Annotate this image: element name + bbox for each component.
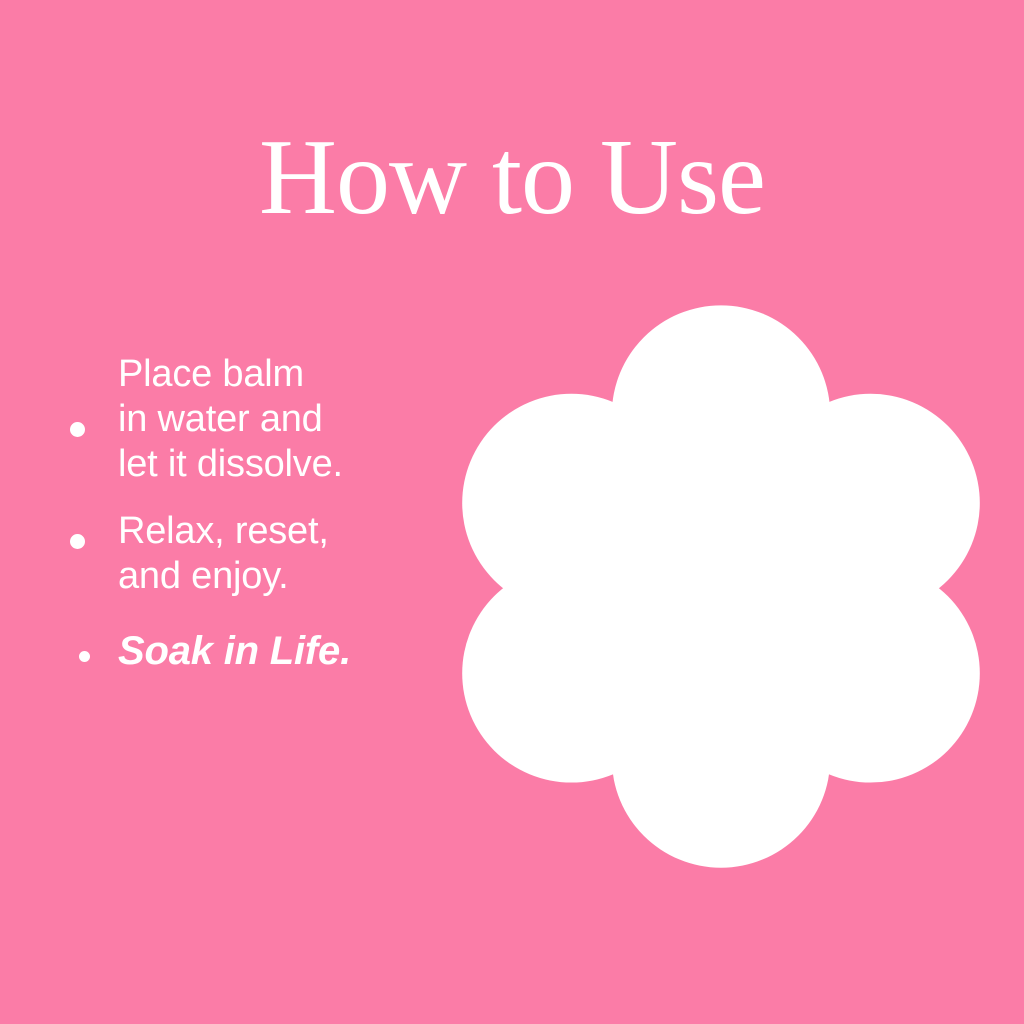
list-item-step-1: Place balm in water and let it dissolve. [60, 352, 440, 487]
list-item-step-3: Soak in Life. [60, 629, 440, 674]
flower-photo-svg [452, 314, 990, 834]
slide-canvas: How to Use Place balm in water and let i… [0, 0, 1024, 1024]
list-item-step-2: Relax, reset, and enjoy. [60, 509, 440, 599]
step-2-text: Relax, reset, and enjoy. [118, 509, 440, 599]
page-title: How to Use [0, 124, 1024, 232]
flower-photo-frame [452, 314, 990, 834]
how-to-use-steps-list: Place balm in water and let it dissolve.… [60, 352, 440, 674]
bullet-dot-icon [70, 422, 85, 437]
bullet-dot-icon [79, 651, 90, 662]
step-3-text: Soak in Life. [118, 629, 440, 674]
bullet-dot-icon [70, 534, 85, 549]
flower-white-border [462, 305, 980, 867]
step-1-text: Place balm in water and let it dissolve. [118, 352, 440, 487]
